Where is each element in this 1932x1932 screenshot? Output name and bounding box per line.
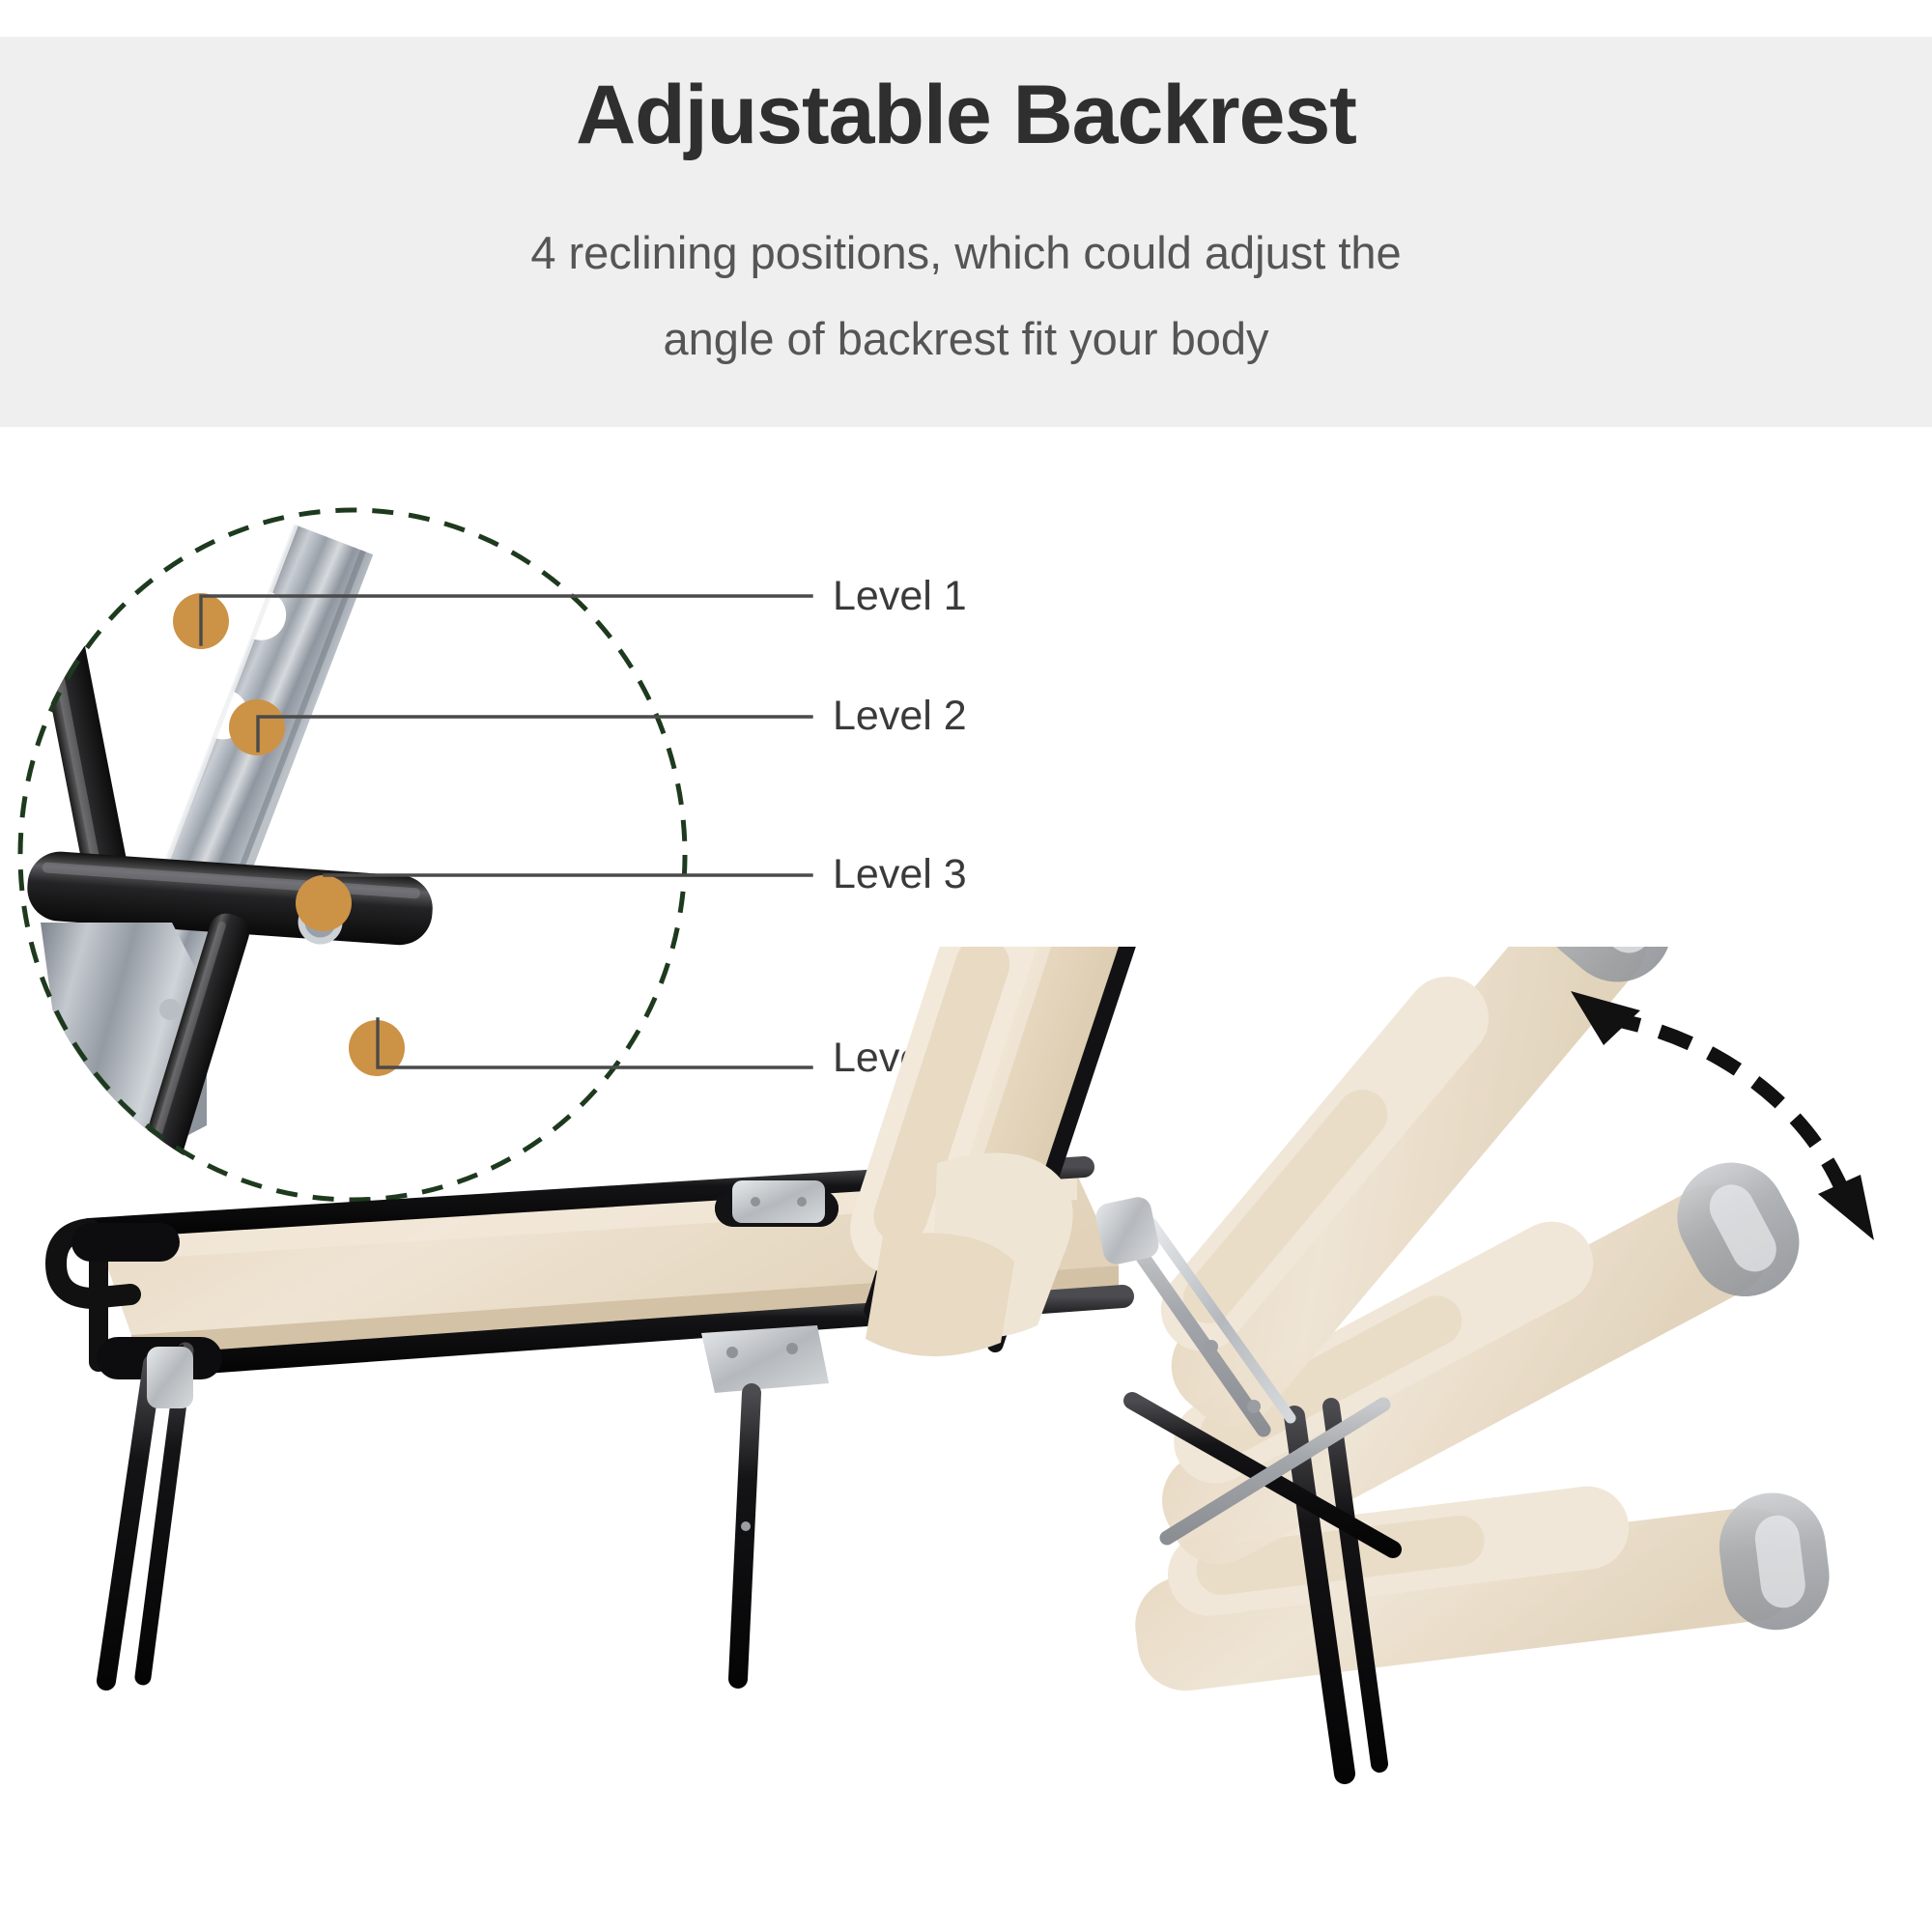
level-label-3: Level 3 <box>833 854 967 895</box>
rotation-arrow-icon <box>1565 985 1913 1275</box>
page-title: Adjustable Backrest <box>0 73 1932 156</box>
page-subtitle-line-2: angle of backrest fit your body <box>0 316 1932 361</box>
page-subtitle-line-1: 4 reclining positions, which could adjus… <box>0 230 1932 275</box>
seat-center-hinge <box>732 1180 825 1223</box>
level-label-1: Level 1 <box>833 576 967 617</box>
level-label-2: Level 2 <box>833 696 967 737</box>
seat-right-hinge <box>701 1325 829 1393</box>
